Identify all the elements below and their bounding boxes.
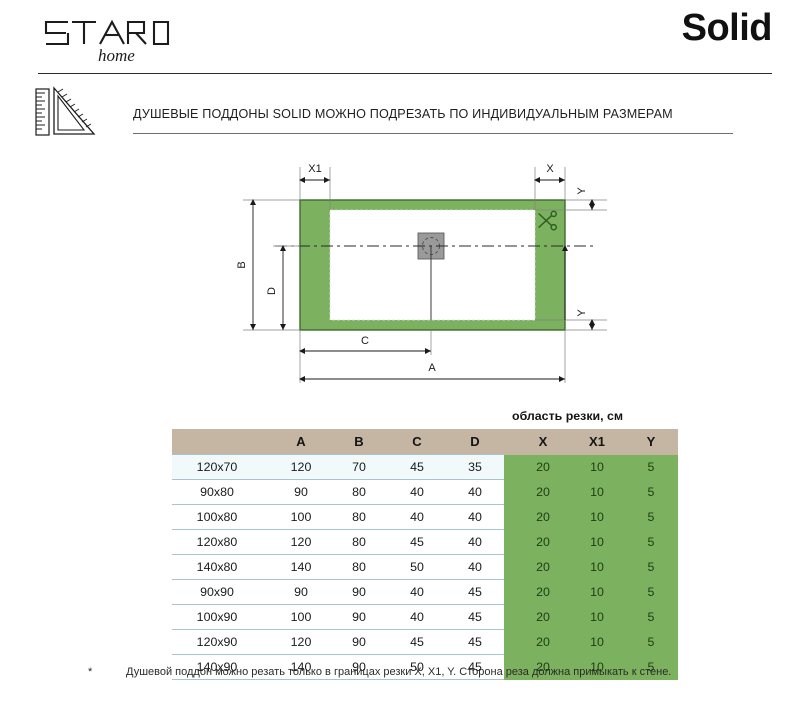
dim-label-a: A xyxy=(428,362,436,374)
col-header-b: B xyxy=(330,429,388,455)
cell-d: 45 xyxy=(446,580,504,605)
cell-y: 5 xyxy=(624,480,678,505)
cell-x: 20 xyxy=(516,555,570,580)
cell-b: 80 xyxy=(330,505,388,530)
table-header-row: A B C D X X1 Y xyxy=(172,429,678,455)
shower-tray-diagram: X1 X Y Y B D C A xyxy=(215,155,635,395)
cell-x1: 10 xyxy=(570,455,624,480)
cell-size: 120х70 xyxy=(172,455,272,480)
cell-x1: 10 xyxy=(570,605,624,630)
cell-size: 100х80 xyxy=(172,505,272,530)
dim-label-d: D xyxy=(266,287,278,295)
table-row: 120х9012090454520105 xyxy=(172,630,678,655)
subheader-section: ДУШЕВЫЕ ПОДДОНЫ SOLID МОЖНО ПОДРЕЗАТЬ ПО… xyxy=(0,84,800,146)
col-header-d: D xyxy=(446,429,504,455)
cell-gap xyxy=(504,530,516,555)
cell-x: 20 xyxy=(516,480,570,505)
cell-x: 20 xyxy=(516,580,570,605)
cell-b: 70 xyxy=(330,455,388,480)
cell-y: 5 xyxy=(624,530,678,555)
cell-gap xyxy=(504,630,516,655)
cell-d: 35 xyxy=(446,455,504,480)
cell-c: 40 xyxy=(388,580,446,605)
staro-home-logo: home xyxy=(38,14,203,66)
cell-c: 45 xyxy=(388,530,446,555)
cell-b: 90 xyxy=(330,630,388,655)
table-row: 90х809080404020105 xyxy=(172,480,678,505)
cell-size: 90х80 xyxy=(172,480,272,505)
ruler-set-square-icon xyxy=(32,86,118,138)
cell-a: 90 xyxy=(272,580,330,605)
dim-label-y-top: Y xyxy=(576,187,588,195)
cut-zone-caption: область резки, см xyxy=(512,409,623,423)
cell-b: 90 xyxy=(330,605,388,630)
cell-y: 5 xyxy=(624,555,678,580)
cell-c: 45 xyxy=(388,455,446,480)
cell-y: 5 xyxy=(624,455,678,480)
cell-x: 20 xyxy=(516,505,570,530)
subheader-title: ДУШЕВЫЕ ПОДДОНЫ SOLID МОЖНО ПОДРЕЗАТЬ ПО… xyxy=(133,107,673,121)
table-row: 90х909090404520105 xyxy=(172,580,678,605)
cell-b: 80 xyxy=(330,555,388,580)
dim-label-x: X xyxy=(546,163,554,175)
cell-c: 45 xyxy=(388,630,446,655)
cell-d: 40 xyxy=(446,555,504,580)
cell-gap xyxy=(504,580,516,605)
cell-a: 120 xyxy=(272,455,330,480)
header-divider xyxy=(38,73,772,74)
subheader-divider xyxy=(133,133,733,134)
cell-x: 20 xyxy=(516,530,570,555)
cell-y: 5 xyxy=(624,630,678,655)
cell-c: 40 xyxy=(388,605,446,630)
dim-label-c: C xyxy=(361,335,369,347)
cell-a: 120 xyxy=(272,530,330,555)
table-row: 100х9010090404520105 xyxy=(172,605,678,630)
cell-gap xyxy=(504,455,516,480)
col-header-x1: X1 xyxy=(570,429,624,455)
dimensions-table: A B C D X X1 Y 120х701207045352010590х80… xyxy=(172,429,678,680)
cell-x1: 10 xyxy=(570,480,624,505)
cell-gap xyxy=(504,480,516,505)
col-header-c: C xyxy=(388,429,446,455)
footnote-marker: * xyxy=(88,666,126,678)
cell-x: 20 xyxy=(516,605,570,630)
dim-label-x1: X1 xyxy=(308,163,321,175)
page-header: home Solid xyxy=(0,0,800,78)
table-row: 140х8014080504020105 xyxy=(172,555,678,580)
cell-y: 5 xyxy=(624,605,678,630)
footnote-text: Душевой поддон можно резать только в гра… xyxy=(126,666,671,678)
cell-y: 5 xyxy=(624,505,678,530)
cell-b: 80 xyxy=(330,530,388,555)
col-header-size xyxy=(172,429,272,455)
cell-size: 90х90 xyxy=(172,580,272,605)
col-header-gap xyxy=(504,429,516,455)
col-header-a: A xyxy=(272,429,330,455)
cell-a: 140 xyxy=(272,555,330,580)
page-title: Solid xyxy=(682,9,772,47)
table-row: 120х8012080454020105 xyxy=(172,530,678,555)
cell-d: 40 xyxy=(446,505,504,530)
table-row: 100х8010080404020105 xyxy=(172,505,678,530)
cell-d: 40 xyxy=(446,530,504,555)
cell-size: 120х80 xyxy=(172,530,272,555)
cell-a: 100 xyxy=(272,605,330,630)
svg-text:home: home xyxy=(98,46,135,65)
cell-a: 120 xyxy=(272,630,330,655)
cell-c: 40 xyxy=(388,505,446,530)
cell-x1: 10 xyxy=(570,530,624,555)
cell-gap xyxy=(504,555,516,580)
cell-size: 140х80 xyxy=(172,555,272,580)
col-header-y: Y xyxy=(624,429,678,455)
cell-c: 50 xyxy=(388,555,446,580)
cell-x1: 10 xyxy=(570,630,624,655)
cell-gap xyxy=(504,505,516,530)
cell-x: 20 xyxy=(516,455,570,480)
cell-size: 100х90 xyxy=(172,605,272,630)
cell-x1: 10 xyxy=(570,580,624,605)
cell-d: 40 xyxy=(446,480,504,505)
cell-gap xyxy=(504,605,516,630)
dim-label-b: B xyxy=(236,261,248,268)
col-header-x: X xyxy=(516,429,570,455)
table-row: 120х7012070453520105 xyxy=(172,455,678,480)
cell-c: 40 xyxy=(388,480,446,505)
footnote: *Душевой поддон можно резать только в гр… xyxy=(88,666,788,678)
cell-x1: 10 xyxy=(570,505,624,530)
cell-a: 90 xyxy=(272,480,330,505)
cell-b: 90 xyxy=(330,580,388,605)
cell-size: 120х90 xyxy=(172,630,272,655)
cell-y: 5 xyxy=(624,580,678,605)
cell-b: 80 xyxy=(330,480,388,505)
cell-d: 45 xyxy=(446,605,504,630)
cell-x1: 10 xyxy=(570,555,624,580)
cell-a: 100 xyxy=(272,505,330,530)
cell-d: 45 xyxy=(446,630,504,655)
cell-x: 20 xyxy=(516,630,570,655)
dim-label-y-bottom: Y xyxy=(576,309,588,317)
